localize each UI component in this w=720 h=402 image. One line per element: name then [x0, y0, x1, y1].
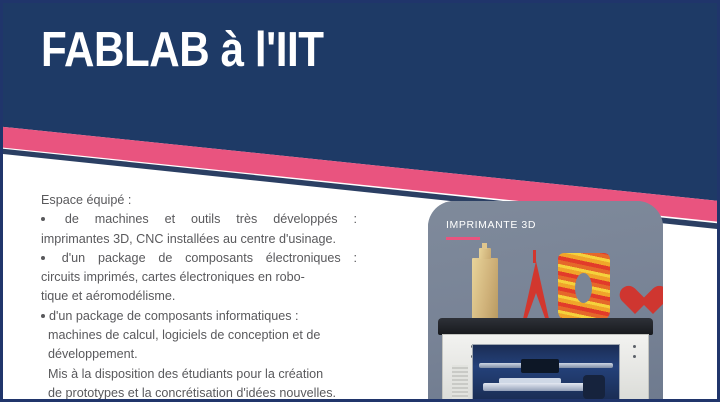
printer-carriage	[521, 359, 559, 373]
panel-label: IMPRIMANTE 3D	[446, 219, 536, 231]
eiffel-spire	[533, 250, 536, 263]
bullet-line: circuits imprimés, cartes électroniques …	[41, 268, 391, 287]
bullet-dot	[41, 249, 49, 268]
bullet-item-informatics: d'un package de composants informatiques…	[41, 307, 391, 365]
printer-indicator	[633, 345, 636, 348]
bullet-dot	[41, 314, 45, 318]
body-text-column: Espace équipé : de machines et outils tr…	[41, 191, 391, 402]
bullet-line-justified: d'un package de composants électroniques…	[41, 249, 357, 268]
printer-photo-panel: IMPRIMANTE 3D	[428, 201, 663, 402]
vase-opening	[575, 273, 592, 303]
bullet-line-justified: de machines et outils très développés :	[41, 210, 357, 229]
bullet-line: d'un package de composants informatiques…	[41, 307, 391, 326]
beige-tower-model-icon	[472, 258, 498, 320]
bullet-item-electronics: d'un package de composants électroniques…	[41, 249, 391, 307]
closing-line: Mis à la disposition des étudiants pour …	[41, 365, 391, 384]
red-heart-model-icon	[618, 281, 652, 315]
printer-indicator	[633, 355, 636, 358]
bullet-line: tique et aéromodélisme.	[41, 287, 391, 306]
bullet-line: développement.	[41, 345, 391, 364]
bullet-line: machines de calcul, logiciels de concept…	[41, 326, 391, 345]
page-title: FABLAB à l'IIT	[41, 25, 324, 76]
printer-vent	[452, 365, 468, 402]
bullet-line: imprimantes 3D, CNC installées au centre…	[41, 230, 391, 249]
printer-chamber-window	[472, 344, 620, 402]
printer-extruder-assembly	[583, 375, 605, 399]
closing-paragraph: Mis à la disposition des étudiants pour …	[41, 365, 391, 402]
body-lead-line: Espace équipé :	[41, 191, 391, 210]
printer-device	[438, 318, 653, 402]
eiffel-negative-space	[527, 293, 545, 318]
printer-top-surface	[438, 318, 653, 335]
presentation-slide: FABLAB à l'IIT Espace équipé : de machin…	[0, 0, 720, 402]
closing-line: de prototypes et la concrétisation d'idé…	[41, 384, 391, 402]
panel-label-underline	[446, 237, 480, 240]
bullet-dot	[41, 210, 49, 229]
bullet-item-machines: de machines et outils très développés : …	[41, 210, 391, 249]
